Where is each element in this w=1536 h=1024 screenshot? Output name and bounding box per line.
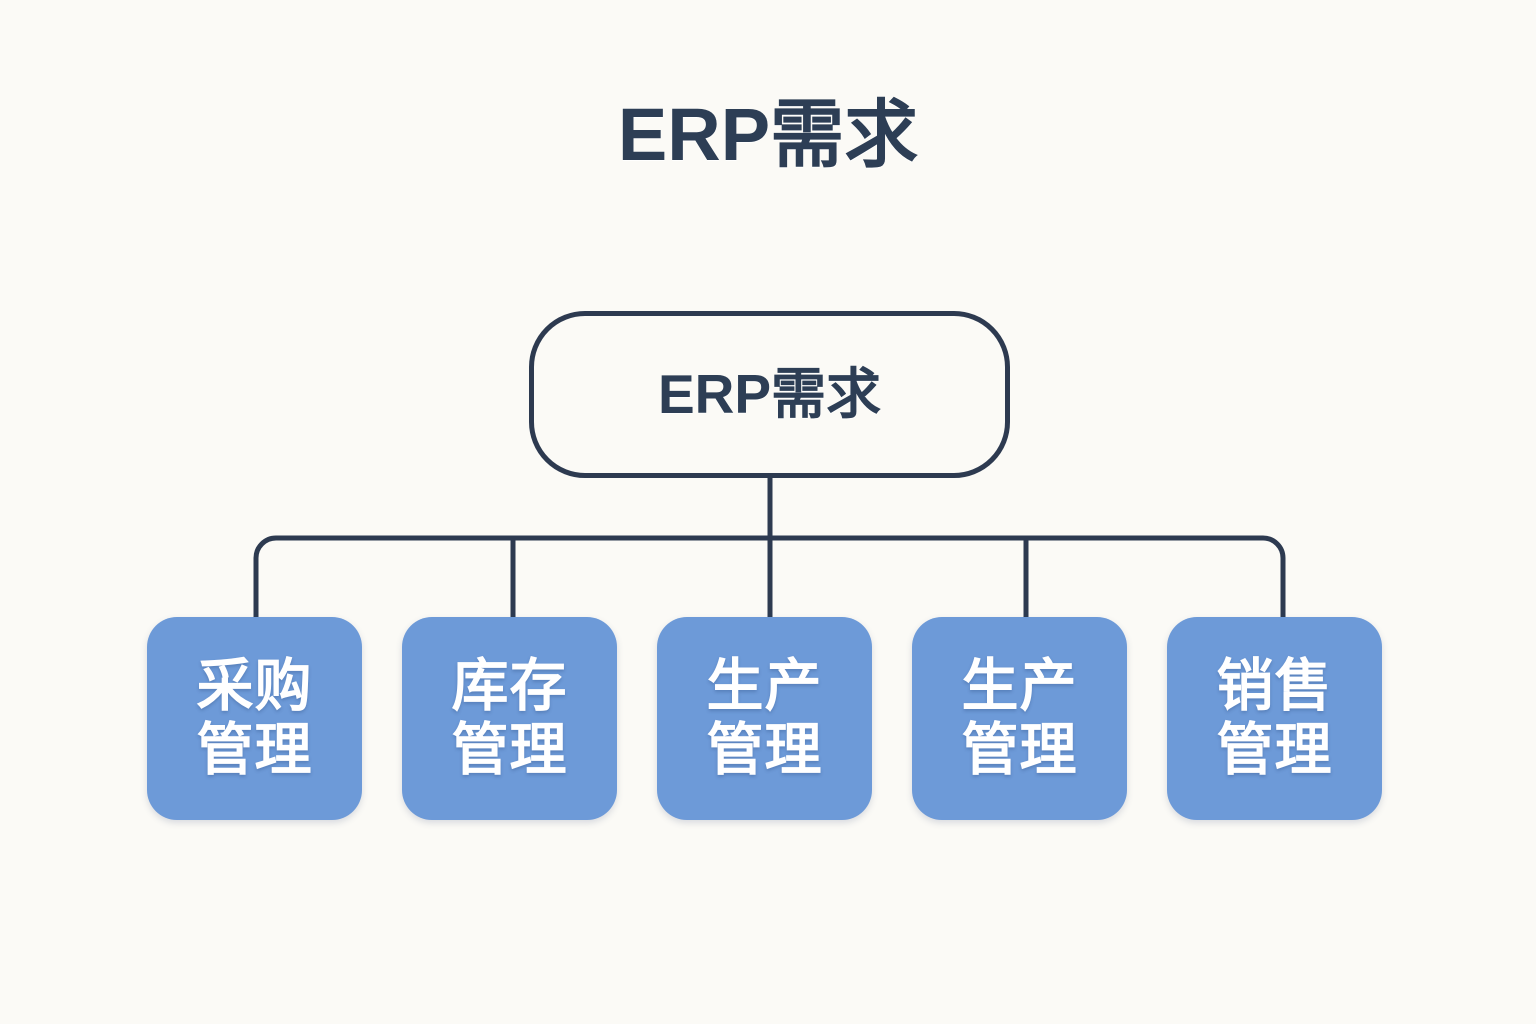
child-node-label: 销售 管理 [1217,655,1333,783]
child-node-production-2[interactable]: 生产 管理 [912,617,1127,820]
connector-bus [256,538,1283,620]
child-node-procurement[interactable]: 采购 管理 [147,617,362,820]
child-node-inventory[interactable]: 库存 管理 [402,617,617,820]
diagram-canvas: ERP需求 ERP需求 采购 管理 库存 管理 生产 管理 生产 管理 销售 管… [0,0,1536,1024]
root-node[interactable]: ERP需求 [529,311,1010,478]
child-node-label: 库存 管理 [452,655,568,783]
child-node-label: 生产 管理 [962,655,1078,783]
root-node-label: ERP需求 [658,364,881,425]
child-node-production-1[interactable]: 生产 管理 [657,617,872,820]
page-title: ERP需求 [0,96,1536,174]
child-node-label: 采购 管理 [197,655,313,783]
child-node-label: 生产 管理 [707,655,823,783]
child-node-sales[interactable]: 销售 管理 [1167,617,1382,820]
